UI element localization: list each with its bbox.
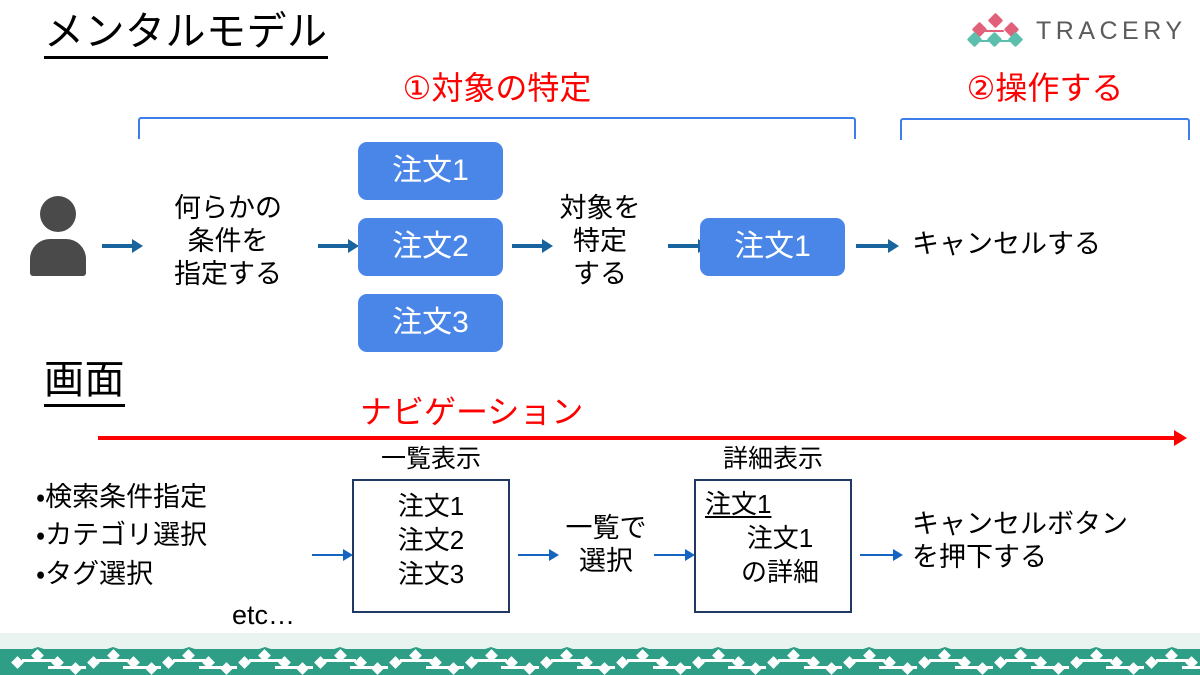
flow-arrow-1 [102, 239, 144, 253]
section-title-text: 画面 [44, 360, 125, 407]
search-conditions-list: ・検索条件指定 ・カテゴリ選択 ・タグ選択 [36, 478, 326, 593]
step-condition-label: 何らかの 条件を 指定する [148, 192, 308, 291]
select-step-label: 一覧で 選択 [556, 512, 656, 578]
flow-arrow-2 [318, 239, 360, 253]
phase-bracket-2 [900, 118, 1190, 140]
list-screen-caption: 一覧表示 [352, 447, 510, 472]
section-title: 画面 [44, 360, 125, 407]
phase-label-1: ①対象の特定 [138, 72, 856, 104]
list-row-3[interactable]: 注文3 [354, 558, 508, 592]
list-screen-box[interactable]: 注文1 注文2 注文3 [352, 479, 510, 613]
page-title: メンタルモデル [44, 12, 328, 59]
order-chip-1[interactable]: 注文1 [358, 142, 503, 200]
footer-pattern-unit [605, 649, 681, 675]
footer-pattern-unit [680, 649, 756, 675]
order-chip-2[interactable]: 注文2 [358, 218, 503, 276]
logo-wordmark: TRACERY [1036, 17, 1187, 46]
action-step-label: キャンセルボタン を押下する [912, 508, 1200, 574]
footer-pattern-unit [1058, 649, 1134, 675]
footer-pattern-unit [227, 649, 303, 675]
footer-pattern-unit [756, 649, 832, 675]
list-row-1[interactable]: 注文1 [354, 490, 508, 524]
detail-screen-box[interactable]: 注文1 注文1 の詳細 [694, 479, 852, 613]
footer-pattern-unit [76, 649, 152, 675]
step-identify-label: 対象を 特定 する [548, 192, 652, 291]
order-chip-identified[interactable]: 注文1 [700, 218, 845, 276]
detail-screen-caption: 詳細表示 [694, 447, 852, 472]
footer-pattern-unit [0, 649, 76, 675]
footer-decoration [0, 633, 1200, 675]
person-icon [27, 196, 89, 276]
footer-pattern-unit [1134, 649, 1200, 675]
list-row-2[interactable]: 注文2 [354, 524, 508, 558]
brand-logo: TRACERY [968, 14, 1187, 48]
phase-bracket-1 [138, 117, 856, 139]
screen-arrow-2 [518, 549, 560, 561]
footer-pattern-unit [302, 649, 378, 675]
footer-pattern-unit [832, 649, 908, 675]
screen-arrow-3 [654, 549, 696, 561]
navigation-arrow [98, 430, 1188, 446]
navigation-label: ナビゲーション [360, 396, 583, 428]
footer-pattern-unit [151, 649, 227, 675]
phase-label-2: ②操作する [900, 72, 1190, 104]
order-chip-3[interactable]: 注文3 [358, 294, 503, 352]
screen-arrow-4 [860, 549, 904, 561]
slide-canvas: メンタルモデル TRACERY ①対象の特定 ②操作する 何らかの 条件を 指定… [0, 0, 1200, 675]
tracery-mark-icon [968, 14, 1022, 48]
step-action-label: キャンセルする [912, 228, 1192, 261]
flow-arrow-5 [856, 239, 900, 253]
footer-pattern-unit [983, 649, 1059, 675]
screen-arrow-1 [312, 549, 354, 561]
detail-title[interactable]: 注文1 [696, 488, 850, 522]
page-title-text: メンタルモデル [44, 12, 328, 59]
footer-pattern-unit [378, 649, 454, 675]
footer-pattern-unit [529, 649, 605, 675]
footer-pattern-unit [907, 649, 983, 675]
etc-label: etc… [232, 602, 295, 629]
detail-body: 注文1 の詳細 [696, 522, 850, 590]
footer-pattern-unit [454, 649, 530, 675]
